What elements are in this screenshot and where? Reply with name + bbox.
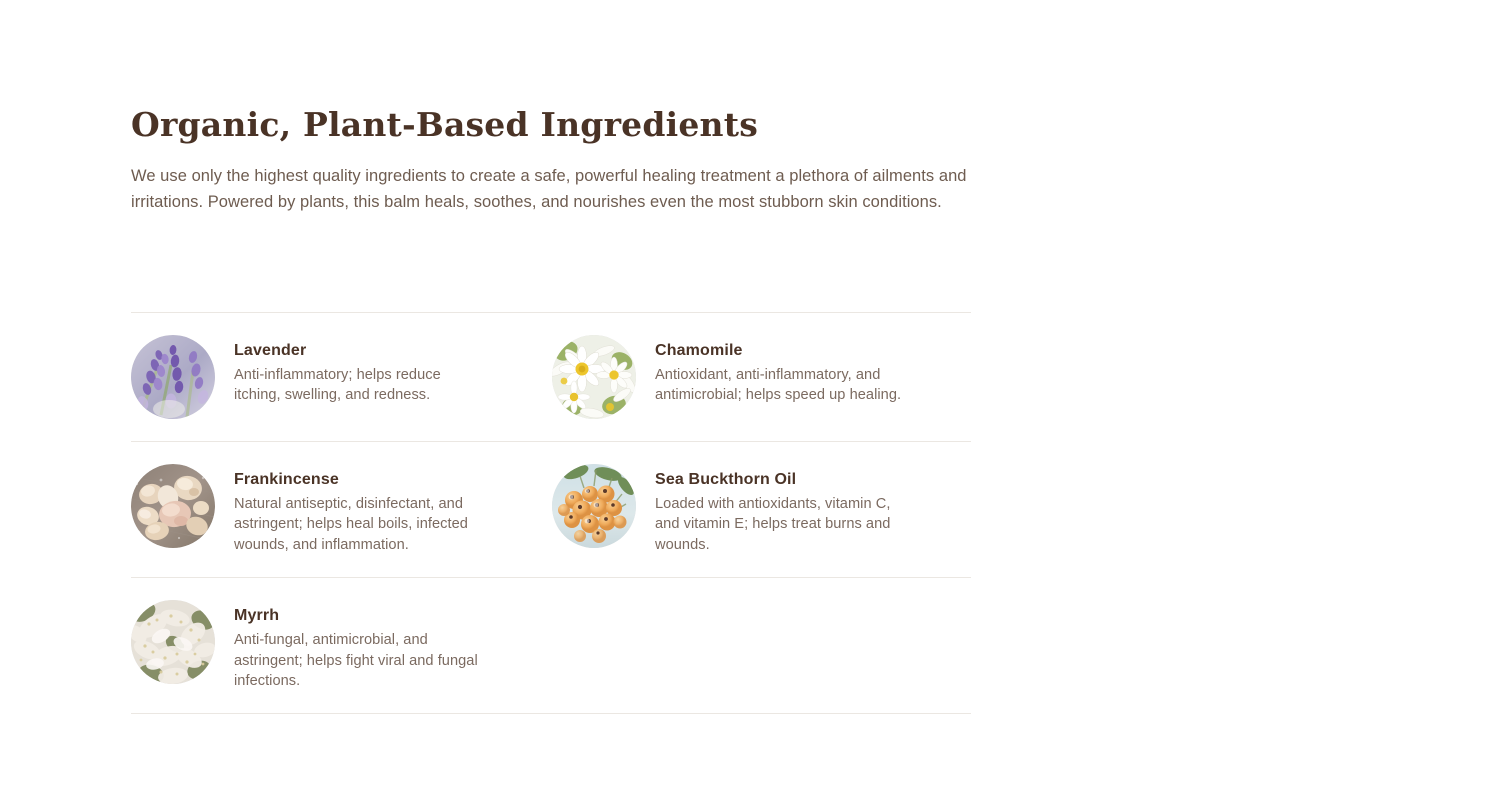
ingredient-item-frankincense: Frankincense Natural antiseptic, disinfe…: [131, 442, 551, 577]
ingredient-text: Lavender Anti-inflammatory; helps reduce…: [215, 335, 484, 406]
ingredient-item-chamomile: Chamomile Antioxidant, anti-inflammatory…: [551, 313, 971, 441]
ingredient-item-lavender: Lavender Anti-inflammatory; helps reduce…: [131, 313, 551, 441]
ingredient-row: Myrrh Anti-fungal, antimicrobial, and as…: [131, 578, 971, 713]
ingredient-description: Anti-fungal, antimicrobial, and astringe…: [234, 630, 484, 691]
page-title: Organic, Plant-Based Ingredients: [131, 104, 971, 146]
myrrh-photo: [131, 600, 215, 684]
lavender-photo: [131, 335, 215, 419]
ingredient-name: Frankincense: [234, 469, 484, 490]
ingredient-row: Frankincense Natural antiseptic, disinfe…: [131, 442, 971, 577]
ingredient-name: Sea Buckthorn Oil: [655, 469, 903, 490]
ingredient-description: Anti-inflammatory; helps reduce itching,…: [234, 365, 484, 406]
section-intro-text: We use only the highest quality ingredie…: [131, 164, 969, 215]
ingredient-description: Loaded with antioxidants, vitamin C, and…: [655, 494, 903, 555]
frankincense-photo: [131, 464, 215, 548]
ingredient-text: Myrrh Anti-fungal, antimicrobial, and as…: [215, 600, 484, 691]
sea-buckthorn-photo: [552, 464, 636, 548]
ingredient-text: Chamomile Antioxidant, anti-inflammatory…: [636, 335, 903, 406]
divider-bottom: [131, 713, 971, 714]
section-header: Organic, Plant-Based Ingredients We use …: [131, 104, 971, 215]
ingredient-name: Chamomile: [655, 340, 903, 361]
ingredient-text: Sea Buckthorn Oil Loaded with antioxidan…: [636, 464, 903, 555]
chamomile-photo: [552, 335, 636, 419]
ingredient-name: Myrrh: [234, 605, 484, 626]
ingredient-item-myrrh: Myrrh Anti-fungal, antimicrobial, and as…: [131, 578, 551, 713]
ingredient-list: Lavender Anti-inflammatory; helps reduce…: [131, 312, 971, 714]
ingredient-text: Frankincense Natural antiseptic, disinfe…: [215, 464, 484, 555]
ingredient-description: Antioxidant, anti-inflammatory, and anti…: [655, 365, 903, 406]
ingredient-row: Lavender Anti-inflammatory; helps reduce…: [131, 313, 971, 441]
ingredient-item-sea-buckthorn-oil: Sea Buckthorn Oil Loaded with antioxidan…: [551, 442, 971, 577]
ingredient-name: Lavender: [234, 340, 484, 361]
ingredients-page: Organic, Plant-Based Ingredients We use …: [0, 0, 1491, 798]
ingredient-description: Natural antiseptic, disinfectant, and as…: [234, 494, 484, 555]
